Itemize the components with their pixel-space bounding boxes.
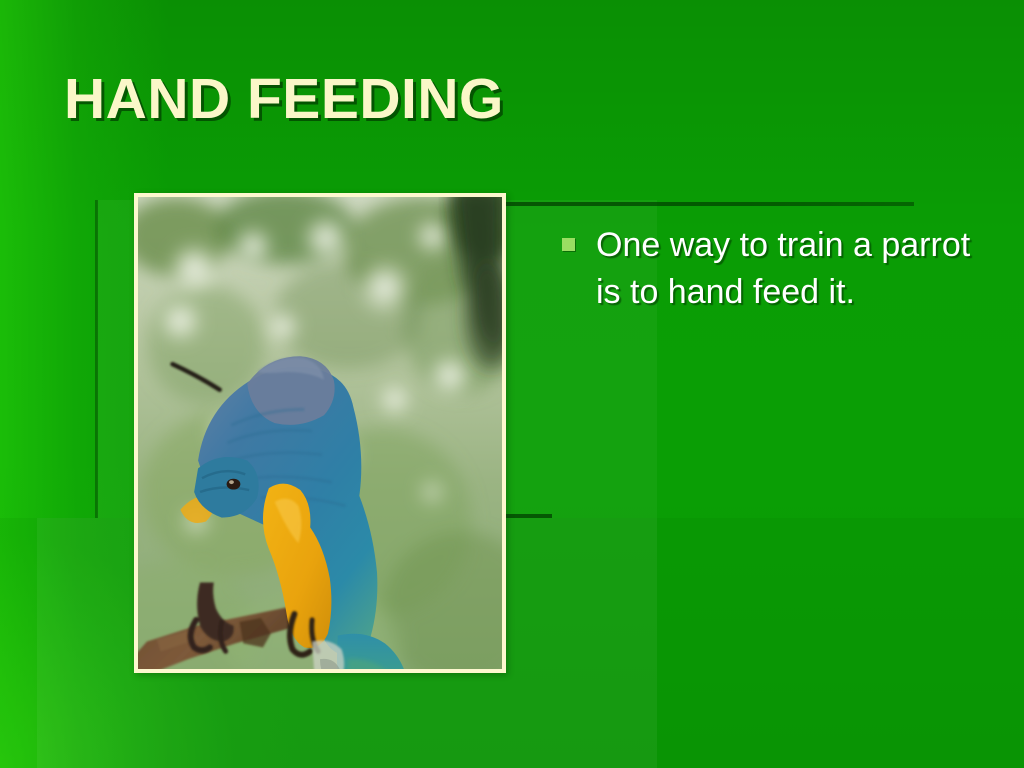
presentation-slide: HAND FEEDING One way to train a parrot i… bbox=[0, 0, 1024, 768]
slide-title: HAND FEEDING bbox=[64, 70, 504, 130]
bullet-text: One way to train a parrot is to hand fee… bbox=[596, 222, 994, 316]
horizontal-rule-lower-icon bbox=[500, 514, 552, 518]
list-item: One way to train a parrot is to hand fee… bbox=[562, 222, 994, 316]
slide-photo bbox=[138, 197, 502, 669]
bullet-list: One way to train a parrot is to hand fee… bbox=[562, 222, 994, 316]
macaw-hand-feeding-illustration bbox=[138, 197, 502, 669]
slide-photo-frame bbox=[134, 193, 506, 673]
vertical-rule-icon bbox=[95, 200, 98, 518]
square-bullet-icon bbox=[562, 238, 575, 251]
horizontal-rule-upper-icon bbox=[500, 202, 914, 206]
